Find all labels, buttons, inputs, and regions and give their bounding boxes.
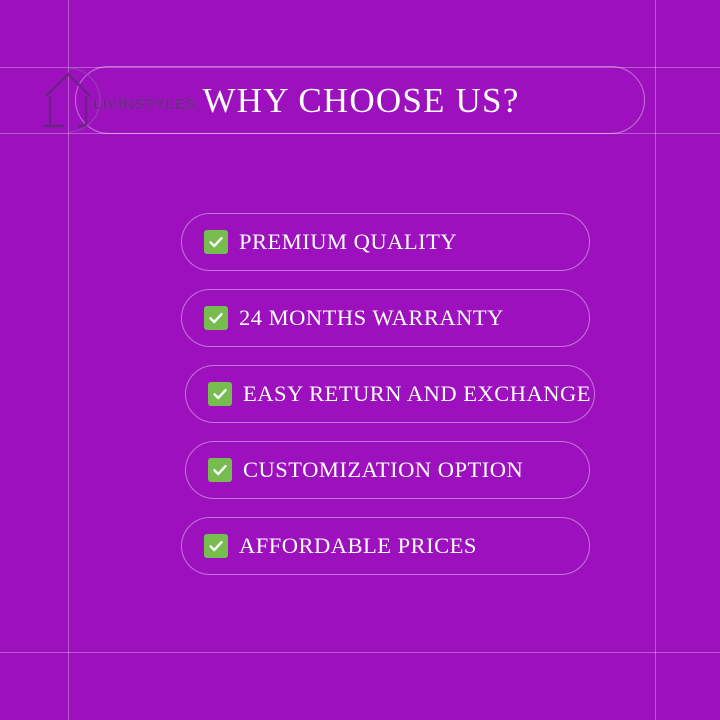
guide-line-horizontal-bottom <box>0 652 720 653</box>
green-check-icon <box>208 458 232 482</box>
feature-label: CUSTOMIZATION OPTION <box>243 457 523 483</box>
green-check-icon <box>204 534 228 558</box>
green-check-icon <box>204 306 228 330</box>
feature-label: EASY RETURN AND EXCHANGE <box>243 381 591 407</box>
feature-list: PREMIUM QUALITY 24 MONTHS WARRANTY EASY … <box>0 213 720 593</box>
list-item: CUSTOMIZATION OPTION <box>0 441 720 499</box>
feature-pill-warranty[interactable]: 24 MONTHS WARRANTY <box>181 289 590 347</box>
list-item: EASY RETURN AND EXCHANGE <box>0 365 720 423</box>
list-item: 24 MONTHS WARRANTY <box>0 289 720 347</box>
list-item: AFFORDABLE PRICES <box>0 517 720 575</box>
poster-canvas: WHY CHOOSE US? LIVINSTYLES PREMIUM QUALI… <box>0 0 720 720</box>
feature-label: 24 MONTHS WARRANTY <box>239 305 504 331</box>
feature-pill-affordable-prices[interactable]: AFFORDABLE PRICES <box>181 517 590 575</box>
green-check-icon <box>208 382 232 406</box>
feature-pill-customization[interactable]: CUSTOMIZATION OPTION <box>185 441 590 499</box>
feature-label: AFFORDABLE PRICES <box>239 533 477 559</box>
feature-pill-return-exchange[interactable]: EASY RETURN AND EXCHANGE <box>185 365 595 423</box>
feature-pill-premium-quality[interactable]: PREMIUM QUALITY <box>181 213 590 271</box>
list-item: PREMIUM QUALITY <box>0 213 720 271</box>
feature-label: PREMIUM QUALITY <box>239 229 457 255</box>
green-check-icon <box>204 230 228 254</box>
title-pill: WHY CHOOSE US? <box>75 66 645 134</box>
page-title: WHY CHOOSE US? <box>76 67 646 135</box>
